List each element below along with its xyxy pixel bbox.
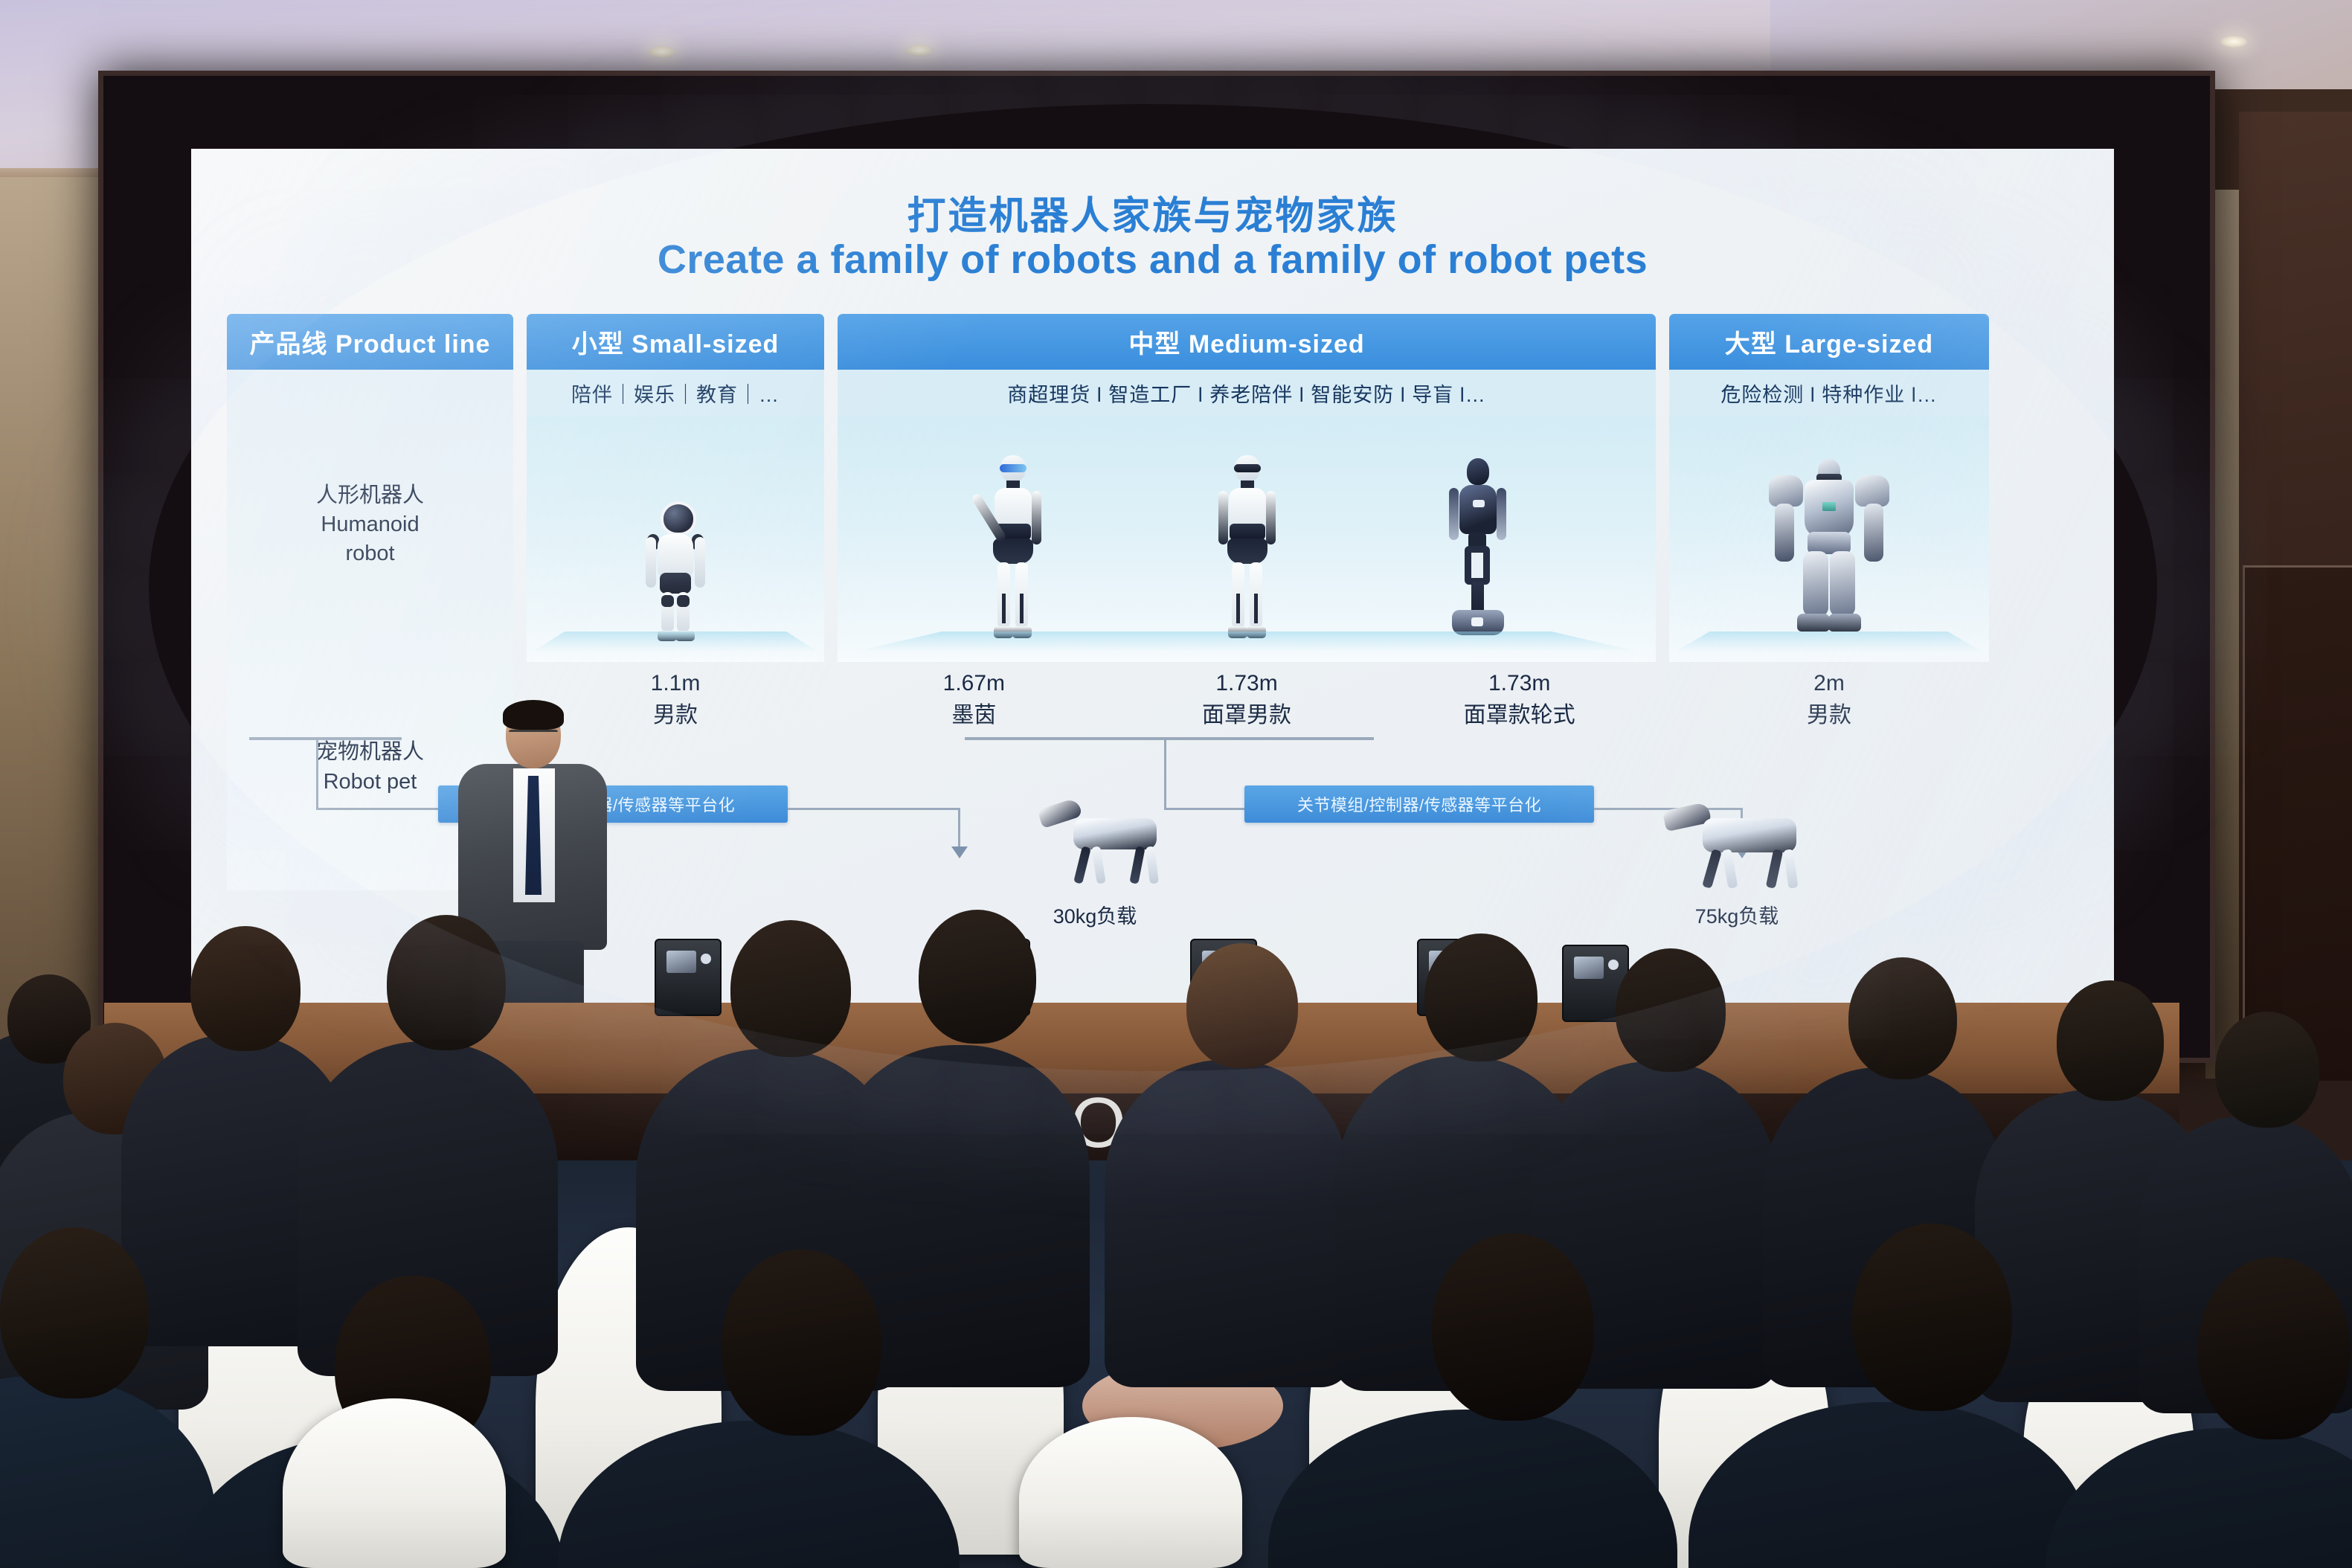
spec-row-large: 2m 男款: [1669, 662, 1989, 731]
arrow-down-icon: [951, 846, 968, 858]
bracket-stem-right: [1164, 737, 1166, 810]
spec-medium-2-variant: 面罩男款: [1111, 700, 1384, 732]
spec-medium-1: 1.67m 墨茵: [838, 662, 1111, 731]
column-sub-medium: 商超理货 l 智造工厂 l 养老陪伴 l 智能安防 l 导盲 l…: [838, 370, 1656, 417]
column-header-small: 小型 Small-sized: [527, 314, 824, 370]
spec-large: 2m 男款: [1669, 662, 1989, 731]
column-header-medium: 中型 Medium-sized: [838, 314, 1656, 370]
slide-title-english: Create a family of robots and a family o…: [191, 237, 2114, 283]
spec-medium-1-variant: 墨茵: [838, 700, 1111, 732]
spec-medium-2-height: 1.73m: [1111, 668, 1384, 700]
column-medium-sized: 中型 Medium-sized 商超理货 l 智造工厂 l 养老陪伴 l 智能安…: [838, 314, 1656, 731]
spec-medium-3: 1.73m 面罩款轮式: [1383, 662, 1656, 731]
downlight-icon: [649, 46, 675, 58]
robot-panel-large: [1669, 417, 1989, 662]
tag-left-out-line: [788, 808, 960, 810]
spec-medium-2: 1.73m 面罩男款: [1111, 662, 1384, 731]
bracket-stem-left: [316, 737, 318, 810]
spec-row-medium: 1.67m 墨茵 1.73m 面罩男款 1.73m 面罩款轮式: [838, 662, 1656, 731]
spec-large-height: 2m: [1669, 668, 1989, 700]
medium-masked-humanoid-robot-icon: [1205, 455, 1288, 643]
spec-large-variant: 男款: [1669, 700, 1989, 732]
right-wood-panel-lower: [2243, 565, 2352, 1081]
large-robot-dog-icon: [1664, 802, 1820, 887]
bracket-line-right: [965, 737, 1374, 740]
slide-title-chinese: 打造机器人家族与宠物家族: [191, 184, 2114, 240]
row-label-humanoid-en2: robot: [227, 539, 513, 568]
pet-caption-large: 75kg负载: [1640, 900, 1834, 929]
spec-medium-1-height: 1.67m: [838, 668, 1111, 700]
stage-light-fixture: [655, 939, 722, 1016]
row-label-humanoid: 人形机器人 Humanoid robot: [227, 370, 513, 568]
downlight-icon: [906, 45, 933, 57]
column-sub-large: 危险检测 l 特种作业 l…: [1669, 370, 1989, 417]
downlight-icon: [2220, 36, 2247, 48]
column-header-large: 大型 Large-sized: [1669, 314, 1989, 370]
bracket-line-left: [249, 737, 402, 740]
column-header-product-line: 产品线 Product line: [227, 314, 513, 370]
presenter-glasses-icon: [509, 730, 558, 744]
platform-tag-right: 关节模组/控制器/传感器等平台化: [1244, 785, 1594, 823]
row-label-humanoid-cn: 人形机器人: [227, 481, 513, 510]
spec-medium-3-height: 1.73m: [1383, 668, 1656, 700]
large-mech-humanoid-robot-icon: [1766, 453, 1892, 643]
presenter-hair: [503, 700, 564, 730]
screenshot-root: 打造机器人家族与宠物家族 Create a family of robots a…: [0, 0, 2352, 1568]
pet-caption-medium: 30kg负载: [998, 900, 1192, 929]
medium-wheeled-humanoid-robot-icon: [1437, 458, 1517, 643]
spec-medium-3-variant: 面罩款轮式: [1383, 700, 1656, 732]
row-label-humanoid-en1: Humanoid: [227, 510, 513, 539]
robot-panel-small: [527, 417, 824, 662]
tag-left-down-line: [958, 808, 960, 848]
column-large-sized: 大型 Large-sized 危险检测 l 特种作业 l…: [1669, 314, 1989, 731]
column-small-sized: 小型 Small-sized 陪伴｜娱乐｜教育｜…: [527, 314, 824, 731]
spec-small-height: 1.1m: [527, 668, 824, 700]
medium-robot-dog-icon: [1039, 803, 1180, 885]
small-humanoid-robot-icon: [641, 501, 710, 643]
bracket-lead-left: [316, 808, 441, 810]
medium-white-humanoid-robot-icon: [971, 455, 1054, 643]
robot-panel-medium: [838, 417, 1656, 662]
left-wall: [0, 177, 112, 1070]
column-sub-small: 陪伴｜娱乐｜教育｜…: [527, 370, 824, 417]
